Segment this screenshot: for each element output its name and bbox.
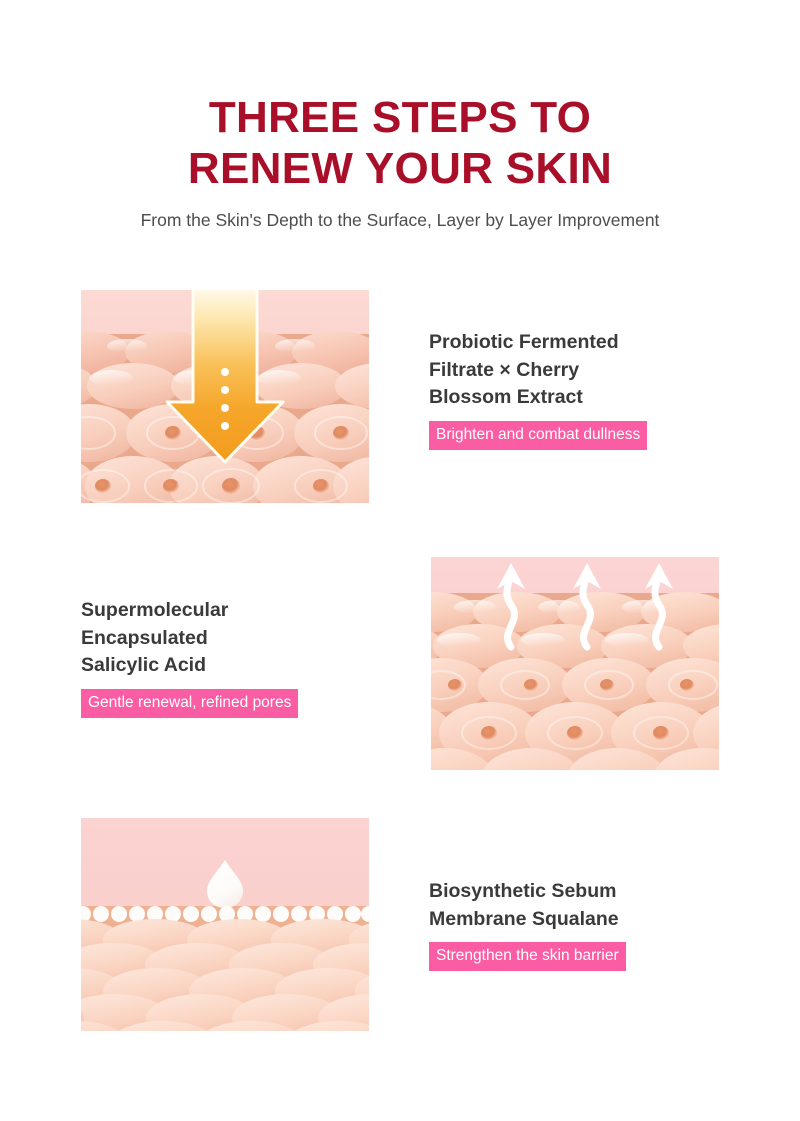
skin-illustration-3 — [81, 818, 369, 1031]
step-2-badge: Gentle renewal, refined pores — [81, 689, 298, 718]
step-2-text-column: Supermolecular Encapsulated Salicylic Ac… — [81, 597, 381, 718]
skin-illustration-2 — [431, 557, 719, 770]
page-title-line-2: RENEW YOUR SKIN — [0, 143, 800, 194]
skin-cross-section-graphic-2 — [431, 557, 719, 770]
step-1-text-column: Probiotic Fermented Filtrate × Cherry Bl… — [429, 329, 729, 450]
skin-cross-section-graphic-1 — [81, 290, 369, 503]
step-1-badge: Brighten and combat dullness — [429, 421, 647, 450]
page-title: THREE STEPS TO RENEW YOUR SKIN — [0, 0, 800, 194]
step-block-2: Supermolecular Encapsulated Salicylic Ac… — [0, 557, 800, 773]
step-3-badge: Strengthen the skin barrier — [429, 942, 626, 971]
step-block-1: Probiotic Fermented Filtrate × Cherry Bl… — [0, 290, 800, 506]
page-header: THREE STEPS TO RENEW YOUR SKIN From the … — [0, 0, 800, 231]
step-3-text-column: Biosynthetic Sebum Membrane Squalane Str… — [429, 878, 729, 971]
skin-illustration-1 — [81, 290, 369, 503]
page-subtitle: From the Skin's Depth to the Surface, La… — [0, 194, 800, 231]
skin-cross-section-graphic-3 — [81, 818, 369, 1031]
page-title-line-1: THREE STEPS TO — [0, 92, 800, 143]
step-3-heading: Biosynthetic Sebum Membrane Squalane — [429, 878, 729, 933]
step-2-heading: Supermolecular Encapsulated Salicylic Ac… — [81, 597, 381, 680]
step-1-heading: Probiotic Fermented Filtrate × Cherry Bl… — [429, 329, 729, 412]
step-block-3: Biosynthetic Sebum Membrane Squalane Str… — [0, 818, 800, 1034]
